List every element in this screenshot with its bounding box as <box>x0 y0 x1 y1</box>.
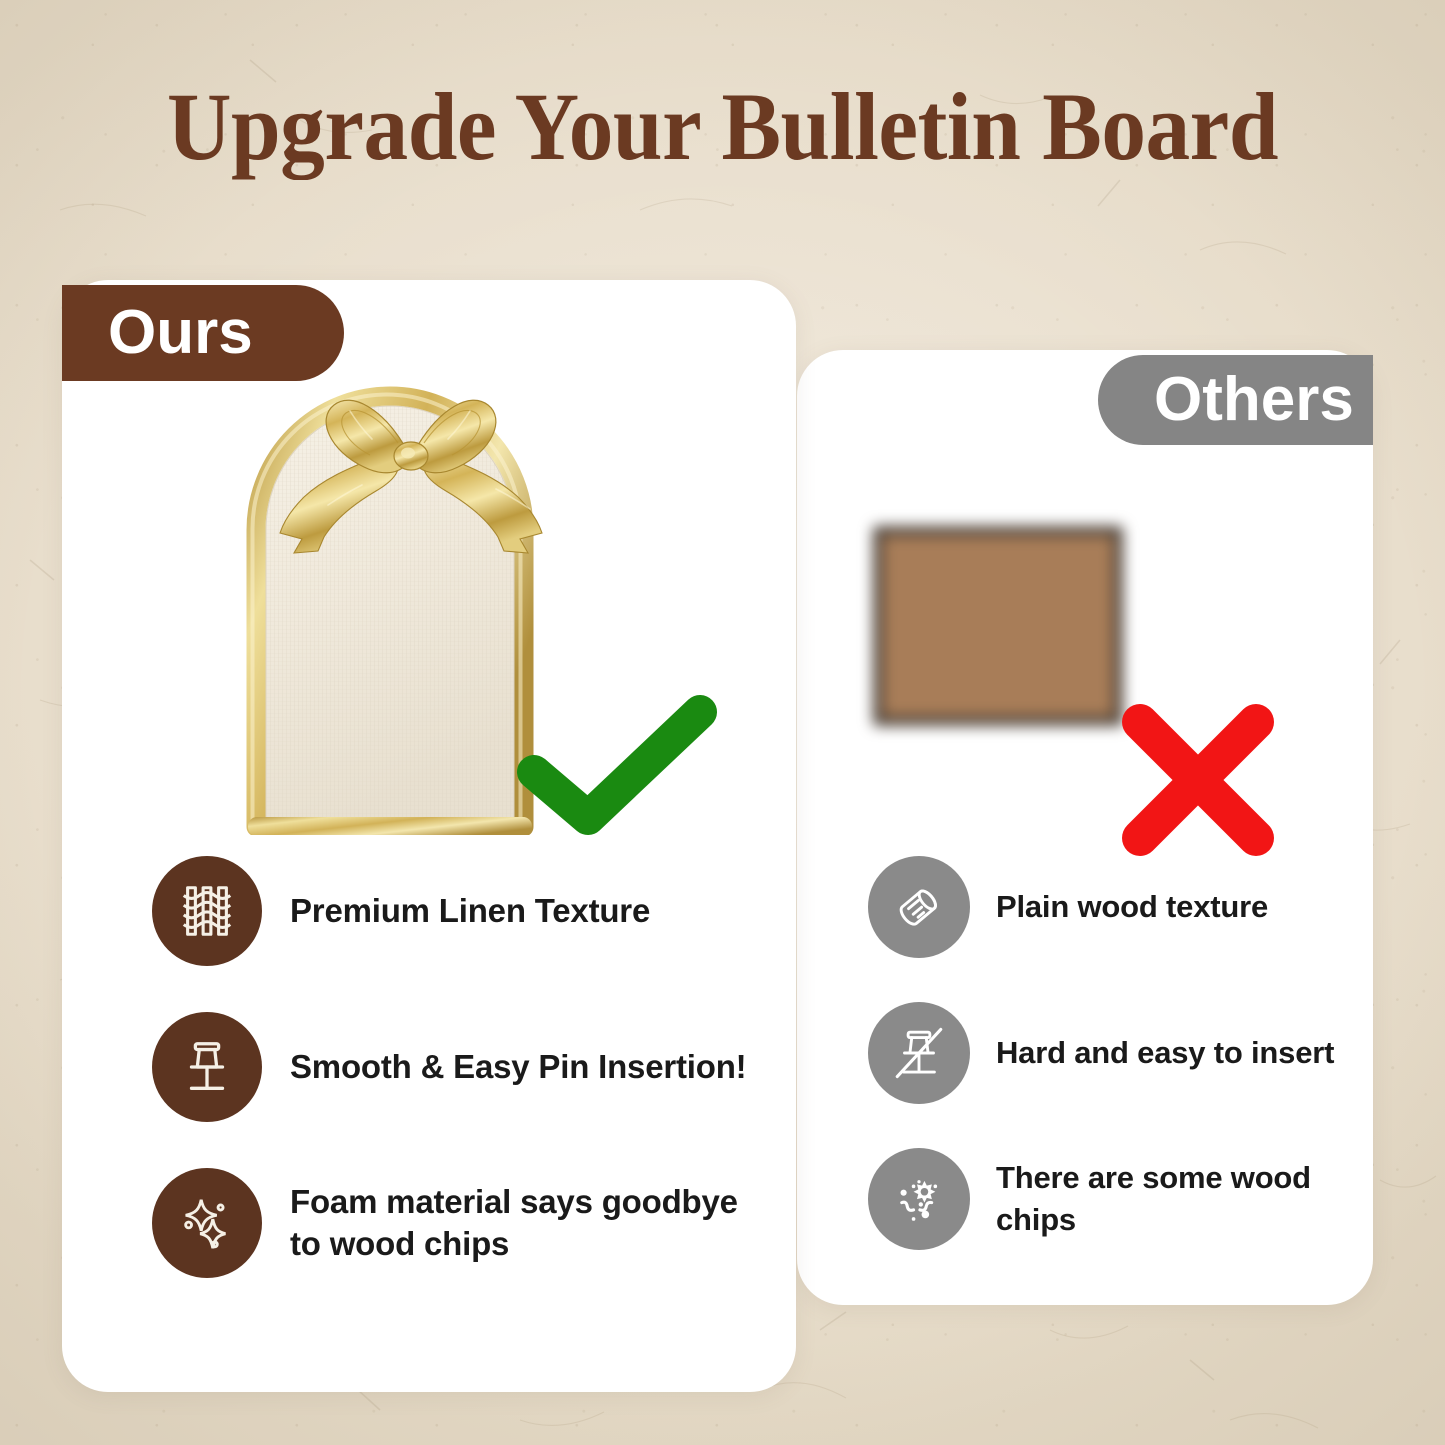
wood-chips-icon <box>868 1148 970 1250</box>
others-feature-list: Plain wood texture Hard and easy to inse… <box>868 856 1348 1294</box>
ours-badge-label: Ours <box>108 302 253 364</box>
list-item-label: Smooth & Easy Pin Insertion! <box>290 1046 746 1088</box>
page-title: Upgrade Your Bulletin Board <box>51 72 1395 182</box>
list-item: Foam material says goodbye to wood chips <box>152 1168 752 1278</box>
list-item-label: Premium Linen Texture <box>290 890 650 932</box>
ours-badge: Ours <box>62 285 344 381</box>
woven-linen-icon <box>152 856 262 966</box>
list-item: Smooth & Easy Pin Insertion! <box>152 1012 752 1122</box>
others-badge: Others <box>1098 355 1373 445</box>
list-item: Plain wood texture <box>868 856 1348 958</box>
list-item-label: There are some wood chips <box>996 1157 1348 1241</box>
list-item-label: Hard and easy to insert <box>996 1032 1334 1074</box>
list-item: There are some wood chips <box>868 1148 1348 1250</box>
no-push-pin-icon <box>868 1002 970 1104</box>
others-badge-label: Others <box>1154 369 1354 431</box>
infographic-canvas: Upgrade Your Bulletin Board <box>0 0 1445 1445</box>
cross-mark-icon <box>1108 690 1288 870</box>
list-item: Premium Linen Texture <box>152 856 752 966</box>
list-item-label: Foam material says goodbye to wood chips <box>290 1181 752 1265</box>
wood-log-icon <box>868 856 970 958</box>
ours-feature-list: Premium Linen Texture Smooth & Easy Pin … <box>152 856 752 1324</box>
check-mark-icon <box>512 690 722 840</box>
others-product-image <box>853 500 1143 790</box>
sparkles-icon <box>152 1168 262 1278</box>
list-item-label: Plain wood texture <box>996 886 1268 928</box>
list-item: Hard and easy to insert <box>868 1002 1348 1104</box>
push-pin-icon <box>152 1012 262 1122</box>
